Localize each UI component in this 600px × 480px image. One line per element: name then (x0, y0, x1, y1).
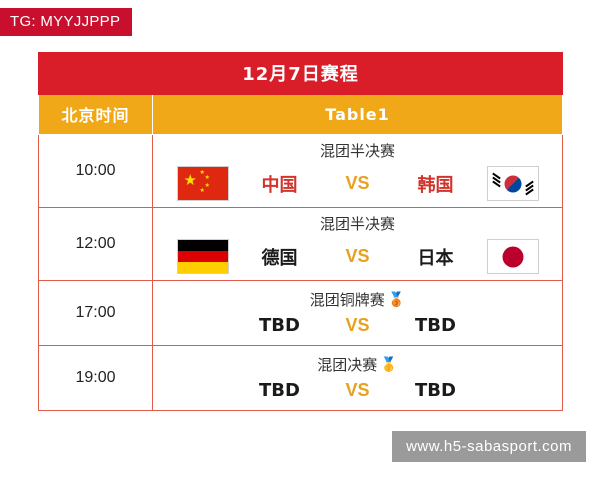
event-name: 混团半决赛 (320, 213, 395, 234)
event-name-text: 混团半决赛 (320, 213, 395, 234)
match-body: 混团决赛 🥇 TBD VS TBD (153, 346, 563, 411)
match-body: 混团半决赛 德国 VS 日本 (153, 208, 563, 281)
germany-band-gold (178, 262, 228, 273)
schedule-title-row: 12月7日赛程 (39, 53, 563, 95)
event-name: 混团铜牌赛 🥉 (310, 289, 405, 310)
left-flag-slot (172, 239, 234, 274)
schedule-table: 12月7日赛程 北京时间 Table1 10:00 混团半决赛 ★ ★ (38, 52, 563, 411)
vs-label: VS (326, 315, 390, 336)
vs-label: VS (326, 173, 390, 194)
vs-label: VS (326, 380, 390, 401)
match-line: TBD VS TBD (153, 315, 562, 336)
table-row: 19:00 混团决赛 🥇 TBD VS TBD (39, 346, 563, 411)
china-big-star: ★ (184, 173, 197, 188)
table-row: 12:00 混团半决赛 德国 (39, 208, 563, 281)
left-team: 德国 (234, 244, 326, 270)
korea-taeguk (504, 175, 521, 192)
bronze-medal-icon: 🥉 (388, 293, 405, 307)
match-line: 德国 VS 日本 (153, 239, 562, 274)
event-name: 混团决赛 🥇 (317, 354, 397, 375)
header-time: 北京时间 (39, 95, 153, 135)
match-time: 19:00 (39, 346, 153, 411)
site-watermark: www.h5-sabasport.com (392, 431, 586, 462)
left-team: TBD (234, 380, 326, 401)
event-name: 混团半决赛 (320, 140, 395, 161)
schedule-title: 12月7日赛程 (39, 53, 563, 95)
germany-band-red (178, 251, 228, 262)
china-small-star-3: ★ (205, 183, 210, 189)
match-body: 混团半决赛 ★ ★ ★ ★ ★ 中国 (153, 135, 563, 208)
flag-korea-icon (487, 166, 539, 201)
gold-medal-icon: 🥇 (380, 358, 397, 372)
flag-germany-icon (177, 239, 229, 274)
germany-band-black (178, 240, 228, 251)
left-team: TBD (234, 315, 326, 336)
right-team: TBD (390, 380, 482, 401)
match-time: 12:00 (39, 208, 153, 281)
match-line: TBD VS TBD (153, 380, 562, 401)
flag-japan-icon (487, 239, 539, 274)
event-name-text: 混团铜牌赛 (310, 289, 385, 310)
right-flag-slot (482, 166, 544, 201)
match-body: 混团铜牌赛 🥉 TBD VS TBD (153, 281, 563, 346)
match-time: 10:00 (39, 135, 153, 208)
match-line: ★ ★ ★ ★ ★ 中国 VS 韩国 (153, 166, 562, 201)
left-flag-slot: ★ ★ ★ ★ ★ (172, 166, 234, 201)
china-small-star-2: ★ (205, 175, 210, 181)
match-time: 17:00 (39, 281, 153, 346)
event-name-text: 混团半决赛 (320, 140, 395, 161)
flag-china-icon: ★ ★ ★ ★ ★ (177, 166, 229, 201)
right-team: TBD (390, 315, 482, 336)
header-table1: Table1 (153, 95, 563, 135)
japan-sun-disc (502, 246, 523, 267)
event-name-text: 混团决赛 (317, 354, 377, 375)
right-flag-slot (482, 239, 544, 274)
china-small-star-4: ★ (200, 188, 205, 194)
right-team: 日本 (390, 244, 482, 270)
schedule-header-row: 北京时间 Table1 (39, 95, 563, 135)
table-row: 17:00 混团铜牌赛 🥉 TBD VS TBD (39, 281, 563, 346)
tg-watermark: TG: MYYJJPPP (0, 8, 132, 36)
right-team: 韩国 (390, 171, 482, 197)
left-team: 中国 (234, 171, 326, 197)
table-row: 10:00 混团半决赛 ★ ★ ★ ★ ★ (39, 135, 563, 208)
vs-label: VS (326, 246, 390, 267)
